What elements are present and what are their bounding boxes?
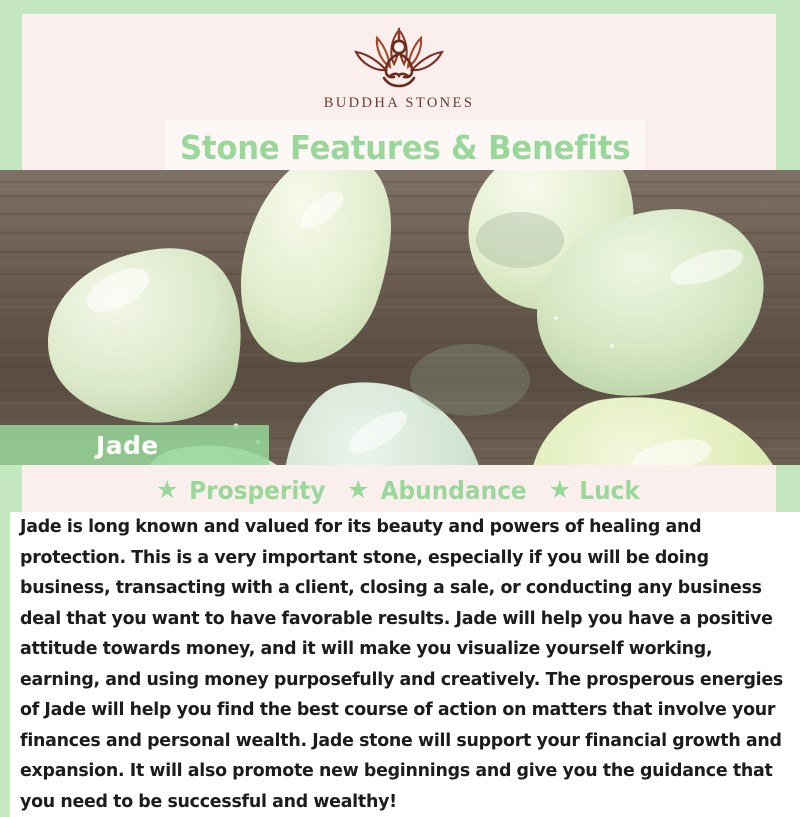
benefit-item: ★ Luck	[549, 476, 643, 505]
benefit-label: Prosperity	[189, 476, 325, 505]
page-title: Stone Features & Benefits	[180, 128, 630, 167]
product-photo	[0, 170, 800, 465]
frame-border-top	[0, 0, 800, 14]
lotus-meditation-icon	[332, 26, 466, 90]
star-icon: ★	[347, 478, 369, 503]
stone-name-banner: Jade	[0, 425, 269, 465]
benefit-item: ★ Prosperity	[156, 476, 331, 505]
section-title-banner: Stone Features & Benefits	[165, 120, 645, 174]
stone-description: Jade is long known and valued for its be…	[10, 512, 800, 817]
benefit-label: Abundance	[381, 476, 527, 505]
infographic-page: BUDDHA STONES Stone Features & Benefits	[22, 14, 776, 770]
brand-header: BUDDHA STONES	[22, 14, 776, 120]
star-icon: ★	[156, 478, 178, 503]
star-icon: ★	[549, 478, 571, 503]
brand-name: BUDDHA STONES	[324, 95, 475, 112]
benefit-item: ★ Abundance	[347, 476, 533, 505]
benefit-label: Luck	[579, 476, 640, 505]
stone-name: Jade	[96, 431, 159, 460]
benefits-row: ★ Prosperity ★ Abundance ★ Luck	[22, 476, 776, 505]
